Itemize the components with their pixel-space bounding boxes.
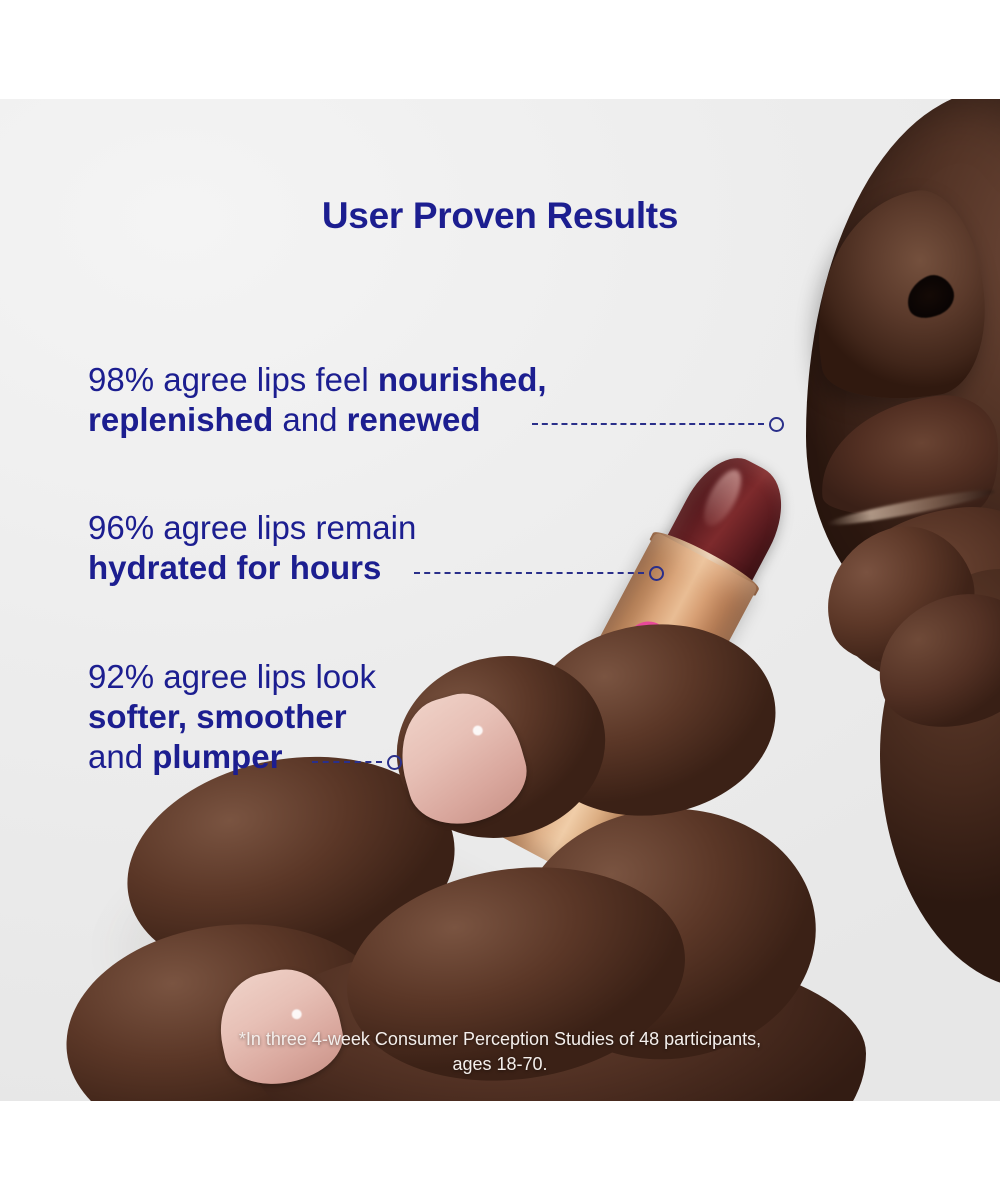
claim-98-line-2-bold-lead: replenished	[88, 401, 273, 438]
claim-96-line-2: hydrated for hours	[88, 548, 416, 588]
claim-98-line-1-regular: 98% agree lips feel	[88, 361, 378, 398]
claim-96-percent: 96% agree lips remain hydrated for hours	[88, 508, 416, 588]
study-footnote: *In three 4-week Consumer Perception Stu…	[160, 1027, 840, 1077]
claim-92-line-1: 92% agree lips look	[88, 657, 376, 697]
leader-line-98	[532, 416, 784, 432]
study-footnote-line-1: *In three 4-week Consumer Perception Stu…	[160, 1027, 840, 1052]
claim-98-line-2: replenished and renewed	[88, 400, 547, 440]
claim-92-line-3-bold: plumper	[152, 738, 282, 775]
leader-endpoint-circle-96	[649, 566, 664, 581]
claim-92-line-2: softer, smoother	[88, 697, 376, 737]
claim-96-line-2-bold: hydrated for hours	[88, 549, 381, 586]
leader-endpoint-circle-92	[387, 755, 402, 770]
claim-96-line-1: 96% agree lips remain	[88, 508, 416, 548]
nail-glint	[472, 724, 484, 736]
claim-98-line-2-regular: and	[273, 401, 346, 438]
leader-dash-92	[312, 761, 382, 763]
leader-endpoint-circle-98	[769, 417, 784, 432]
leader-line-92	[312, 754, 402, 770]
product-photograph	[0, 99, 1000, 1101]
claim-92-line-3-regular: and	[88, 738, 152, 775]
nail-glint	[291, 1008, 303, 1020]
claim-98-line-1-bold: nourished,	[378, 361, 547, 398]
leader-dash-98	[532, 423, 764, 425]
claim-92-line-2-bold: softer, smoother	[88, 698, 347, 735]
claim-98-line-2-bold: renewed	[347, 401, 481, 438]
leader-dash-96	[414, 572, 644, 574]
claim-98-percent: 98% agree lips feel nourished, replenish…	[88, 360, 547, 440]
claim-98-line-1: 98% agree lips feel nourished,	[88, 360, 547, 400]
study-footnote-line-2: ages 18-70.	[160, 1052, 840, 1077]
marketing-image-page: User Proven Results 98% agree lips feel …	[0, 0, 1000, 1200]
image-canvas: User Proven Results 98% agree lips feel …	[0, 99, 1000, 1101]
page-title: User Proven Results	[0, 195, 1000, 237]
leader-line-96	[414, 565, 664, 581]
